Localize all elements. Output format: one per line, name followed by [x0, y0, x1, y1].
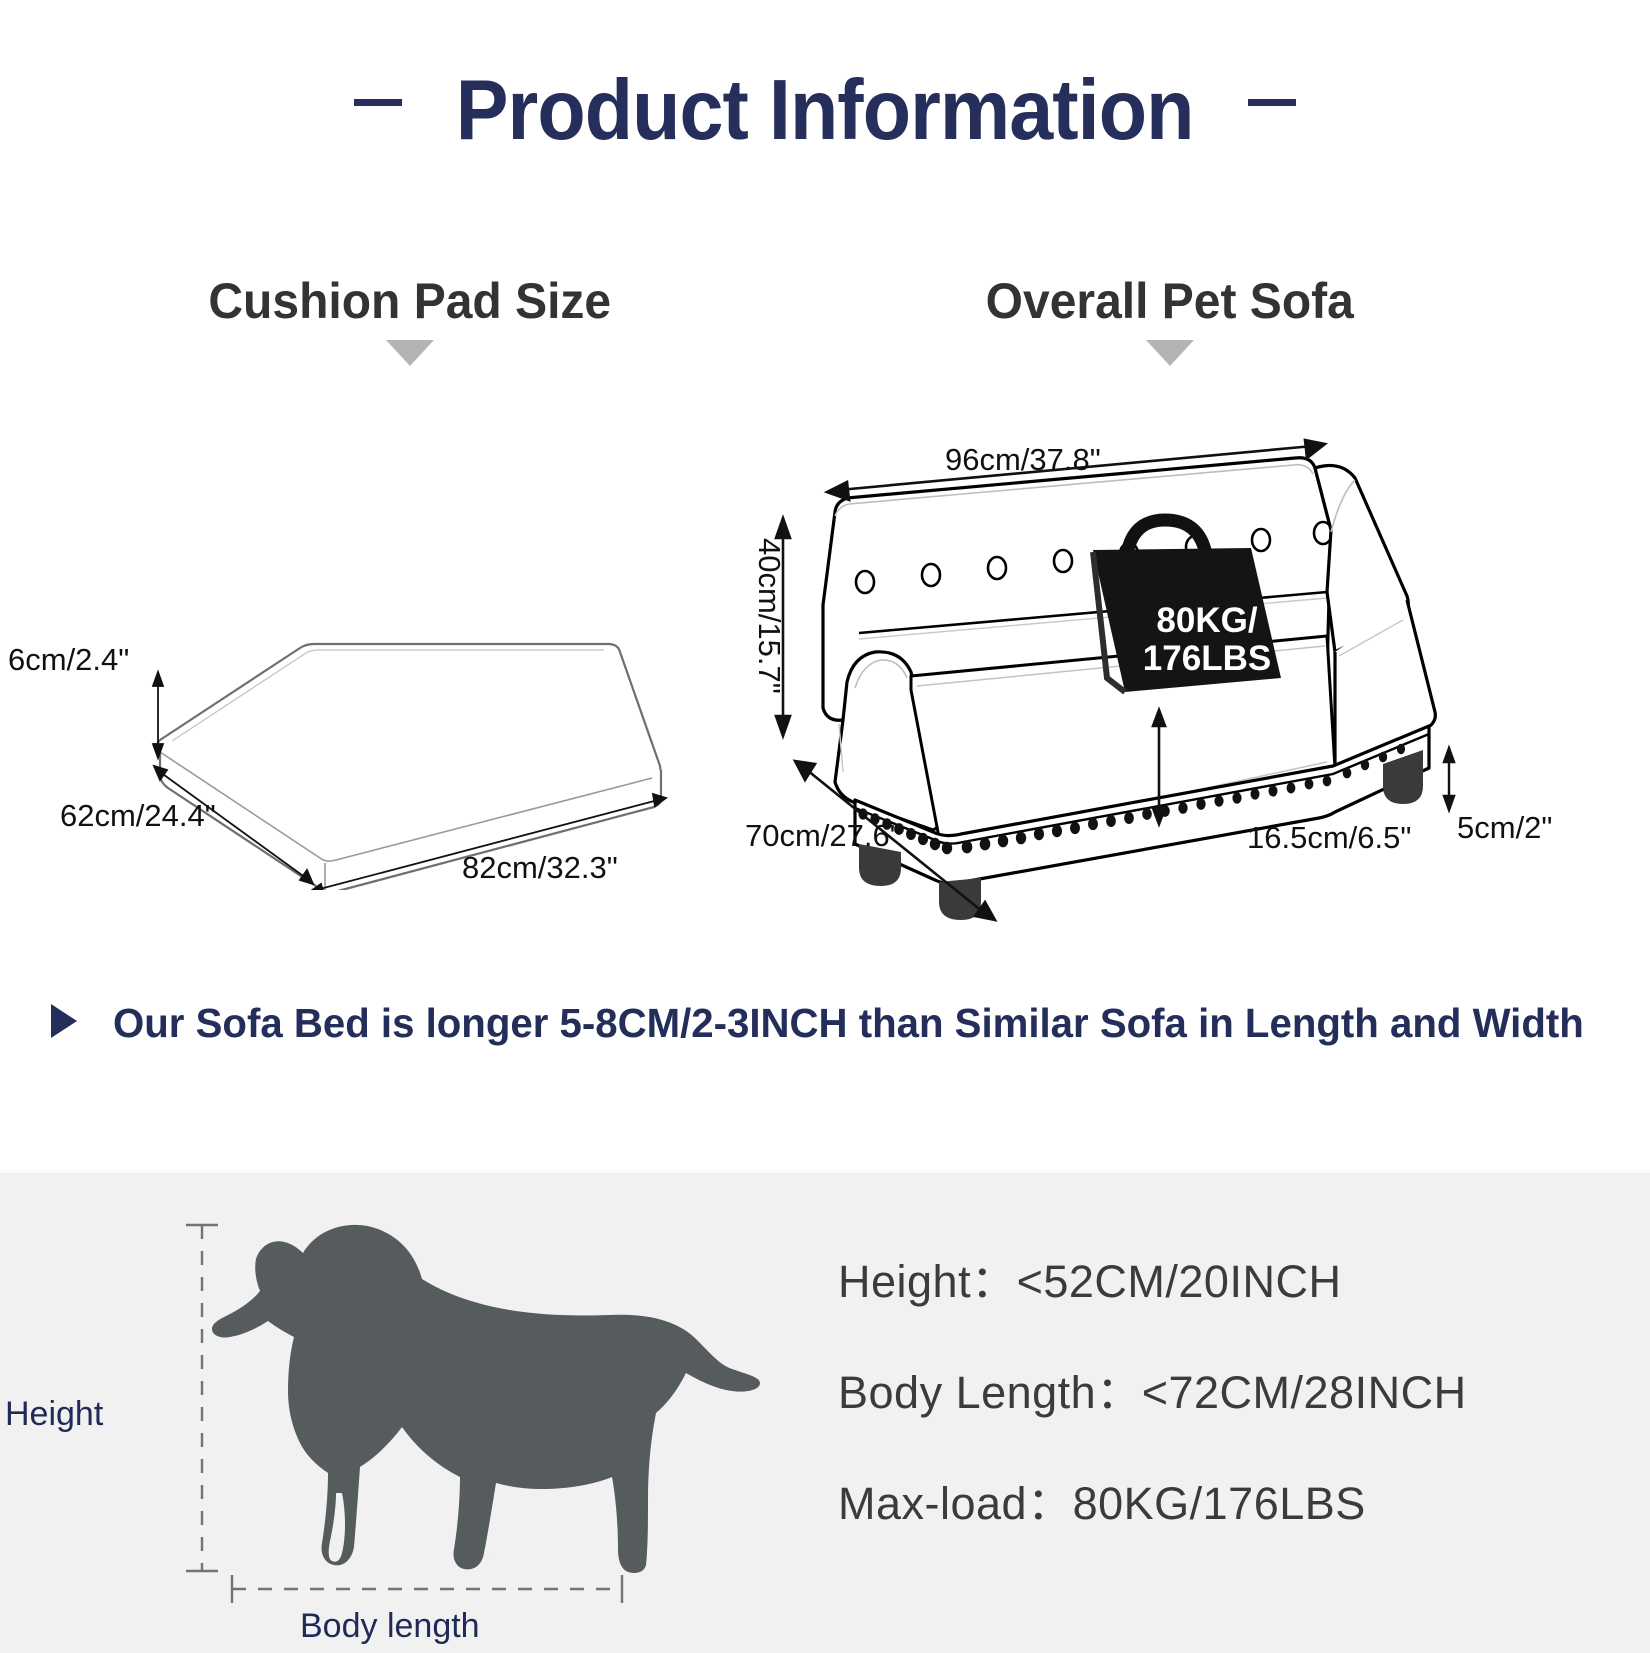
dog-height-label: Height: [5, 1395, 103, 1434]
dog-spec-list: Height：<52CM/20INCH Body Length：<72CM/28…: [838, 1245, 1467, 1578]
sofa-heading-text: Overall Pet Sofa: [986, 272, 1354, 330]
sofa-leg-height-label: 5cm/2": [1457, 810, 1552, 846]
sofa-seat-height-label: 16.5cm/6.5": [1247, 820, 1411, 856]
pet-sofa-diagram: 80KG/ 176LBS 96cm/37.8" 40cm/15.7" 70cm/…: [735, 420, 1635, 930]
down-triangle-icon: [1146, 340, 1194, 366]
dog-figure-drawing: [60, 1193, 760, 1613]
dimension-leg-height: [1444, 748, 1454, 810]
spec-height: Height：<52CM/20INCH: [838, 1245, 1467, 1310]
play-triangle-icon: [51, 1004, 77, 1038]
dimension-thickness: [153, 672, 163, 758]
down-triangle-icon: [386, 340, 434, 366]
cushion-pad-drawing: [0, 560, 780, 890]
page-title: Product Information: [0, 62, 1650, 160]
cushion-length-label: 82cm/32.3": [462, 850, 618, 886]
cushion-heading-text: Cushion Pad Size: [209, 272, 612, 330]
body-length-guide: [232, 1575, 622, 1603]
title-dash-right: [1248, 99, 1296, 106]
cushion-thickness-label: 6cm/2.4": [8, 642, 129, 678]
dog-silhouette: [212, 1225, 760, 1573]
product-information-infographic: Product Information Cushion Pad Size Ove…: [0, 0, 1650, 1650]
dog-size-figure: Height Body length: [60, 1193, 760, 1613]
dog-size-panel: Height Body length Height：<52CM/20INCH B…: [0, 1170, 1650, 1653]
sofa-depth-label: 70cm/27.6": [745, 818, 901, 854]
weight-tag-line1: 80KG/: [1117, 602, 1297, 640]
weight-tag-line2: 176LBS: [1117, 640, 1297, 678]
sofa-height-label: 40cm/15.7": [751, 538, 787, 694]
highlight-statement: Our Sofa Bed is longer 5-8CM/2-3INCH tha…: [0, 1000, 1650, 1047]
dog-body-length-label: Body length: [300, 1607, 480, 1646]
height-guide: [186, 1225, 218, 1571]
top-white-panel: Product Information Cushion Pad Size Ove…: [0, 0, 1650, 1170]
cushion-pad-diagram: 6cm/2.4" 62cm/24.4" 82cm/32.3": [0, 560, 780, 890]
spec-body-length: Body Length：<72CM/28INCH: [838, 1356, 1467, 1421]
weight-tag-text: 80KG/ 176LBS: [1117, 602, 1297, 678]
cushion-width-label: 62cm/24.4": [60, 798, 216, 834]
sofa-width-label: 96cm/37.8": [945, 442, 1101, 478]
section-header-cushion: Cushion Pad Size: [120, 272, 700, 366]
spec-max-load: Max-load：80KG/176LBS: [838, 1467, 1467, 1532]
section-header-sofa: Overall Pet Sofa: [910, 272, 1430, 366]
title-dash-left: [354, 99, 402, 106]
page-title-text: Product Information: [456, 62, 1194, 160]
highlight-statement-text: Our Sofa Bed is longer 5-8CM/2-3INCH tha…: [113, 1000, 1584, 1047]
